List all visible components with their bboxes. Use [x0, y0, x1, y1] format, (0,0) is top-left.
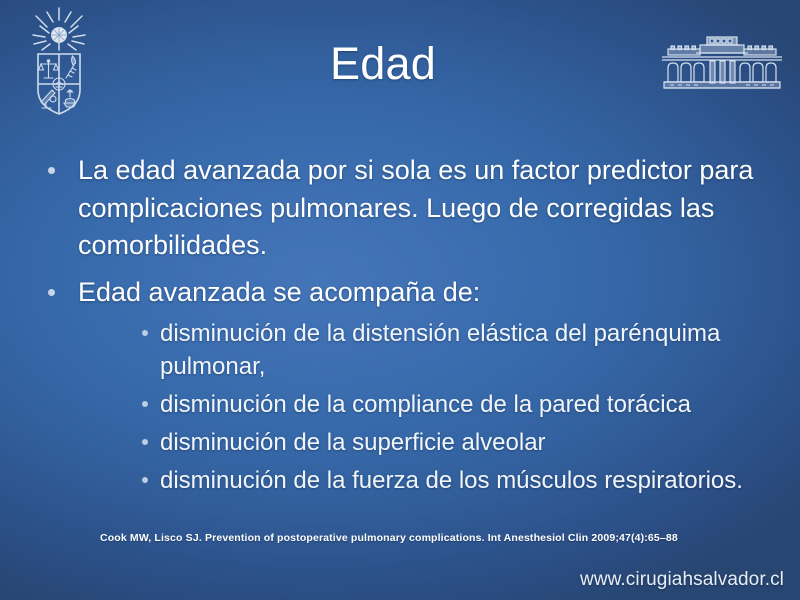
bullet-level1: Edad avanzada se acompaña de: disminució…	[38, 274, 754, 498]
presentation-slide: Edad La edad avanzada por si sola es un …	[0, 0, 800, 600]
citation-reference: Cook MW, Lisco SJ. Prevention of postope…	[100, 531, 740, 545]
torch-icon	[66, 56, 76, 78]
bullet-dot-icon	[142, 401, 148, 407]
bullet-level2: disminución de la fuerza de los músculos…	[78, 464, 754, 497]
bullet-level2-text: disminución de la superficie alveolar	[160, 429, 546, 456]
bullet-level2-text: disminución de la distensión elástica de…	[160, 320, 720, 380]
bullet-level2: disminución de la superficie alveolar	[78, 426, 754, 459]
bullet-dot-icon	[48, 167, 55, 174]
slide-body: La edad avanzada por si sola es un facto…	[38, 152, 754, 497]
central-portico	[710, 61, 735, 83]
bullet-level1-text: La edad avanzada por si sola es un facto…	[78, 155, 753, 260]
scales-icon	[39, 60, 59, 78]
bullet-level1-text: Edad avanzada se acompaña de:	[78, 277, 480, 307]
slide-title: Edad	[120, 38, 646, 90]
bullet-dot-icon	[142, 330, 148, 336]
footer-website-url: www.cirugiahsalvador.cl	[580, 568, 784, 592]
bullet-level2-text: disminución de la fuerza de los músculos…	[160, 467, 743, 494]
sub-bullet-list: disminución de la distensión elástica de…	[78, 317, 754, 497]
bullet-dot-icon	[142, 477, 148, 483]
university-logo	[20, 4, 98, 116]
left-arcade	[668, 63, 704, 82]
bullet-dot-icon	[48, 289, 55, 296]
bullet-level2: disminución de la compliance de la pared…	[78, 388, 754, 421]
hospital-logo	[652, 32, 792, 98]
bullet-level1: La edad avanzada por si sola es un facto…	[38, 152, 754, 265]
book-lamp-icon	[64, 90, 76, 107]
bullet-dot-icon	[142, 439, 148, 445]
right-arcade	[740, 63, 776, 82]
telescope-icon	[41, 90, 56, 108]
bullet-level2: disminución de la distensión elástica de…	[78, 317, 754, 383]
bullet-level2-text: disminución de la compliance de la pared…	[160, 391, 691, 418]
